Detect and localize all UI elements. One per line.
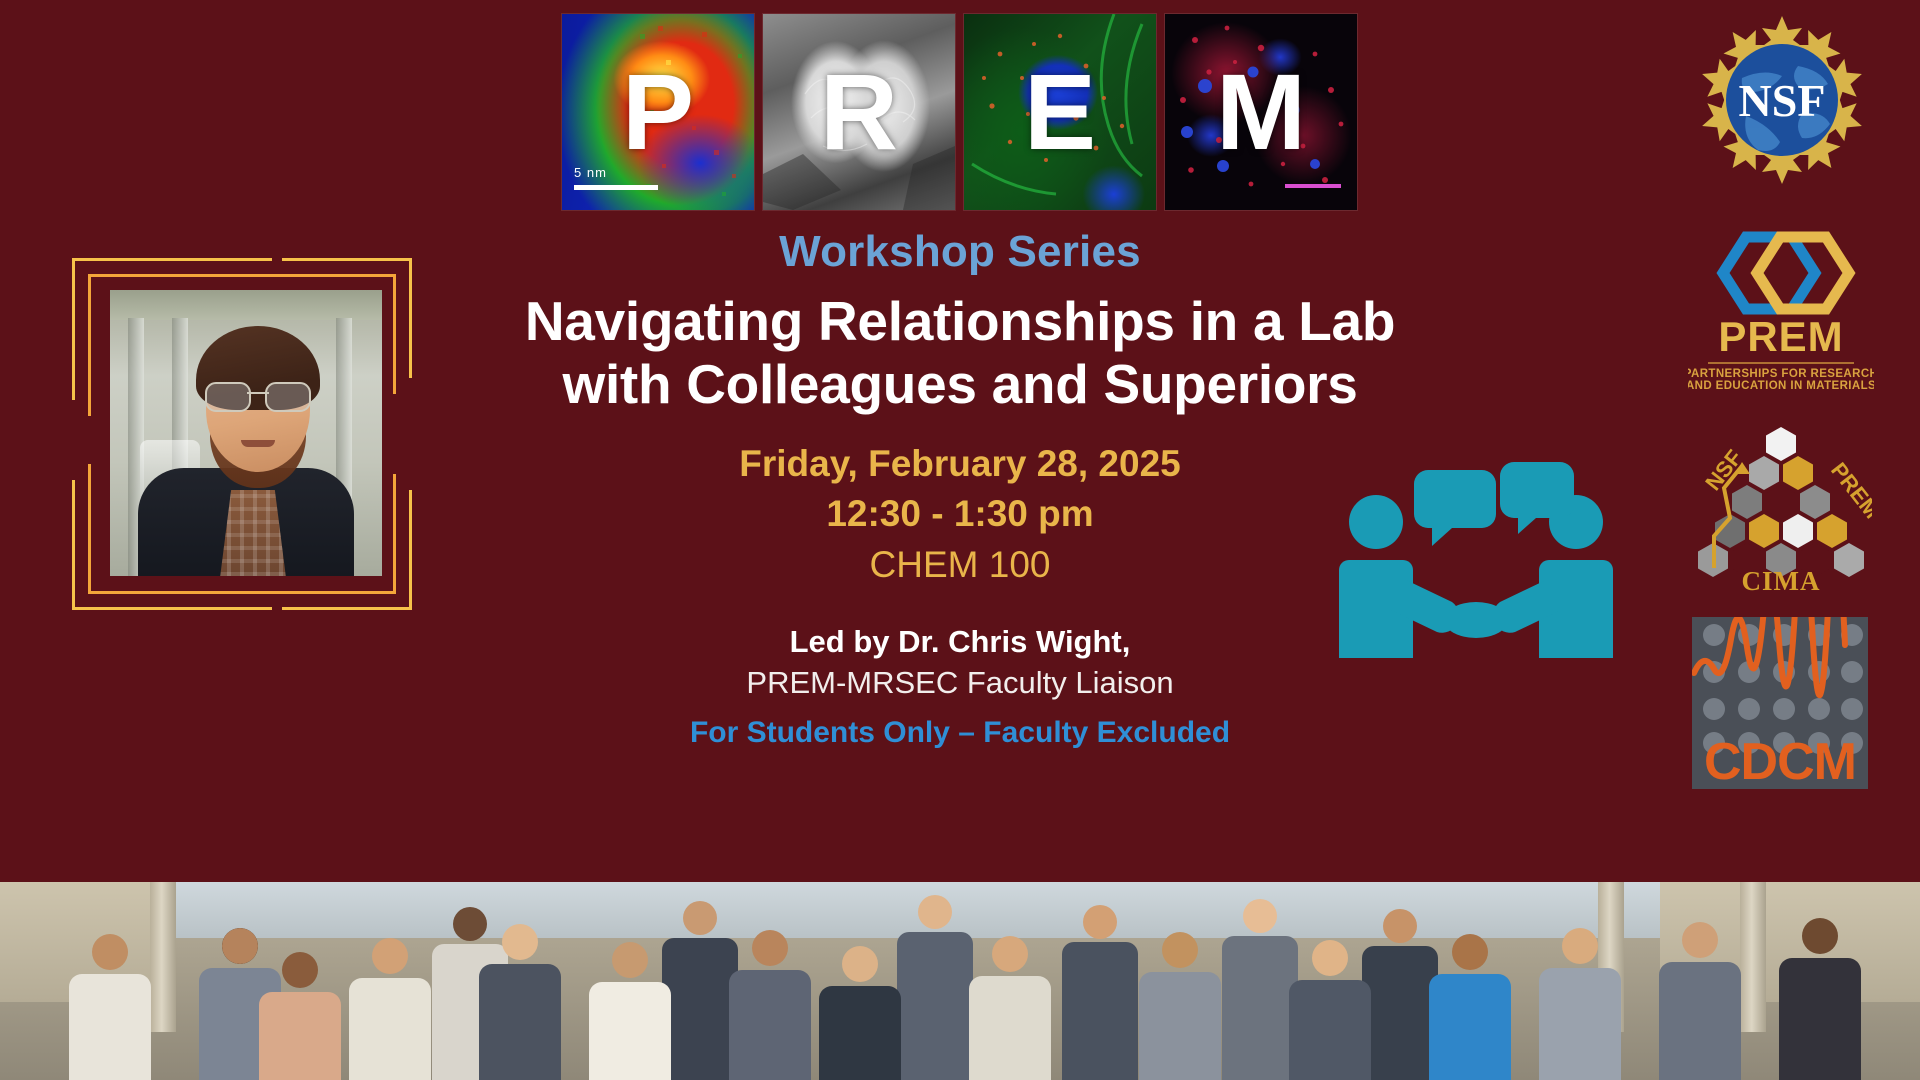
headline-line-1: Navigating Relationships in a Lab [420, 290, 1500, 353]
prem-letter-strip: 5 nm P [562, 14, 1357, 210]
prem-tile-p: 5 nm P [562, 14, 754, 210]
photo-ceiling-beam [110, 290, 382, 320]
cima-logo-label-right: PREM [1826, 458, 1872, 523]
cima-logo: NSF PREM CIMA [1680, 412, 1880, 599]
prem-logo-tagline-2: AND EDUCATION IN MATERIALS [1688, 380, 1874, 392]
headline-line-2: with Colleagues and Superiors [420, 353, 1500, 416]
photo-lens-left [205, 382, 251, 412]
cdcm-logo: CDCM [1680, 613, 1880, 794]
prem-letter-r: R [763, 14, 955, 210]
cima-logo-text: CIMA [1742, 566, 1821, 594]
photo-eyeglasses [205, 382, 311, 408]
nsf-logo-text: NSF [1739, 75, 1826, 126]
speaker-photo [110, 290, 382, 576]
prem-letter-p: P [562, 14, 754, 210]
prem-tile-e: E [964, 14, 1156, 210]
prem-tile-r: R [763, 14, 955, 210]
audience-notice: For Students Only – Faculty Excluded [420, 715, 1500, 751]
prem-logo-text: PREM [1718, 313, 1843, 360]
nsf-logo: NSF [1680, 12, 1880, 193]
flyer-canvas: 5 nm P [0, 0, 1920, 1080]
cdcm-logo-text: CDCM [1704, 733, 1856, 789]
photo-lens-bridge [247, 392, 269, 394]
page-title: Navigating Relationships in a Lab with C… [420, 290, 1500, 415]
group-photo-people [0, 882, 1920, 1080]
prem-logo-tagline-1: PARTNERSHIPS FOR RESEARCH [1688, 368, 1874, 380]
prem-tile-m: M [1165, 14, 1357, 210]
people-conversation-icon [1332, 460, 1620, 680]
speaker-portrait-frame [72, 248, 412, 620]
sponsor-logo-column: NSF PREM PARTNERSHIPS FOR RESEARCH AND E… [1680, 12, 1880, 808]
prem-letter-m: M [1165, 14, 1357, 210]
prem-letter-e: E [964, 14, 1156, 210]
group-photo [0, 882, 1920, 1080]
series-kicker: Workshop Series [420, 228, 1500, 276]
photo-mouth [241, 440, 275, 447]
prem-logo: PREM PARTNERSHIPS FOR RESEARCH AND EDUCA… [1680, 207, 1880, 398]
photo-lens-right [265, 382, 311, 412]
